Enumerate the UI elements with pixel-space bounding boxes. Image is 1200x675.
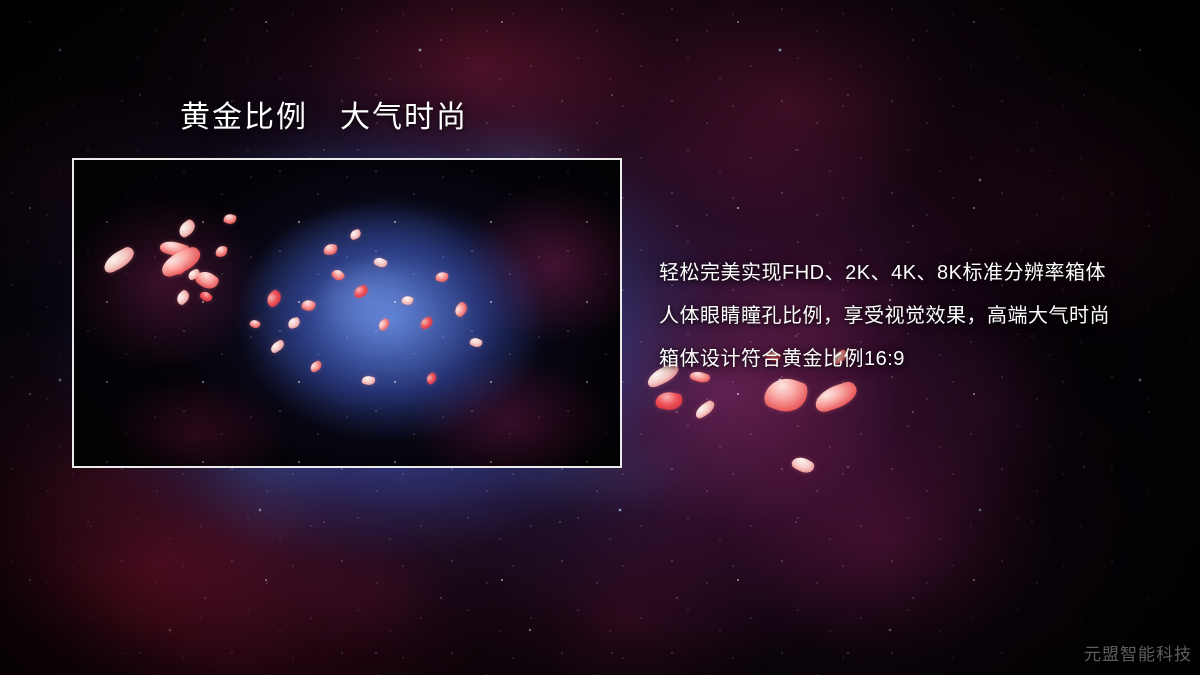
body-line-2: 人体眼睛瞳孔比例，享受视觉效果，高端大气时尚 — [659, 295, 1139, 338]
slide-canvas: 黄金比例 大气时尚 轻松完美实现FHD、2K、4K、8K标准分辨率箱体 人体眼睛… — [0, 0, 1200, 675]
page-title: 黄金比例 大气时尚 — [180, 100, 468, 136]
watermark: 元盟智能科技 — [1084, 640, 1192, 665]
body-line-1: 轻松完美实现FHD、2K、4K、8K标准分辨率箱体 — [659, 252, 1139, 295]
body-line-3: 箱体设计符合黄金比例16:9 — [659, 338, 1139, 381]
galaxy-photo-frame — [72, 158, 622, 468]
panel-vignette — [74, 160, 620, 466]
body-text-block: 轻松完美实现FHD、2K、4K、8K标准分辨率箱体 人体眼睛瞳孔比例，享受视觉效… — [659, 252, 1139, 381]
